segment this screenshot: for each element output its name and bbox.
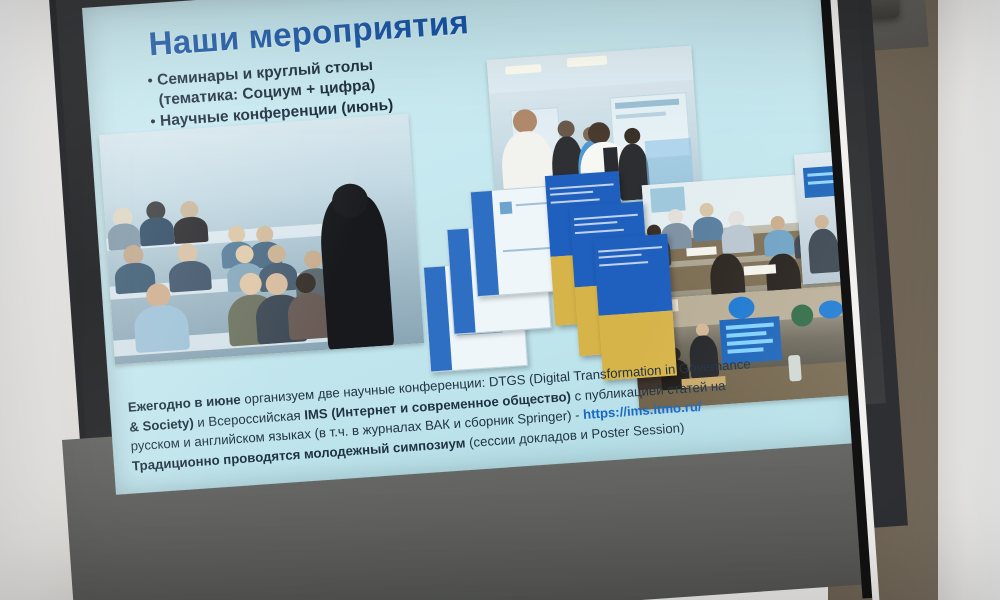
bullet-dot-icon: • bbox=[145, 112, 160, 133]
springer-book-cover bbox=[593, 234, 677, 381]
proceedings-document-stack bbox=[417, 166, 640, 370]
presentation-slide: Наши мероприятия • Семинары и круглый ст… bbox=[82, 0, 859, 495]
photo-lecture-hall-audience bbox=[99, 114, 424, 365]
paragraph-bold-fragment: & Society) bbox=[129, 415, 194, 434]
conference-room-photo: Наши мероприятия • Семинары и круглый ст… bbox=[0, 0, 1000, 600]
bullet-dot-icon: • bbox=[143, 71, 158, 92]
far-right-wall bbox=[938, 0, 1000, 600]
